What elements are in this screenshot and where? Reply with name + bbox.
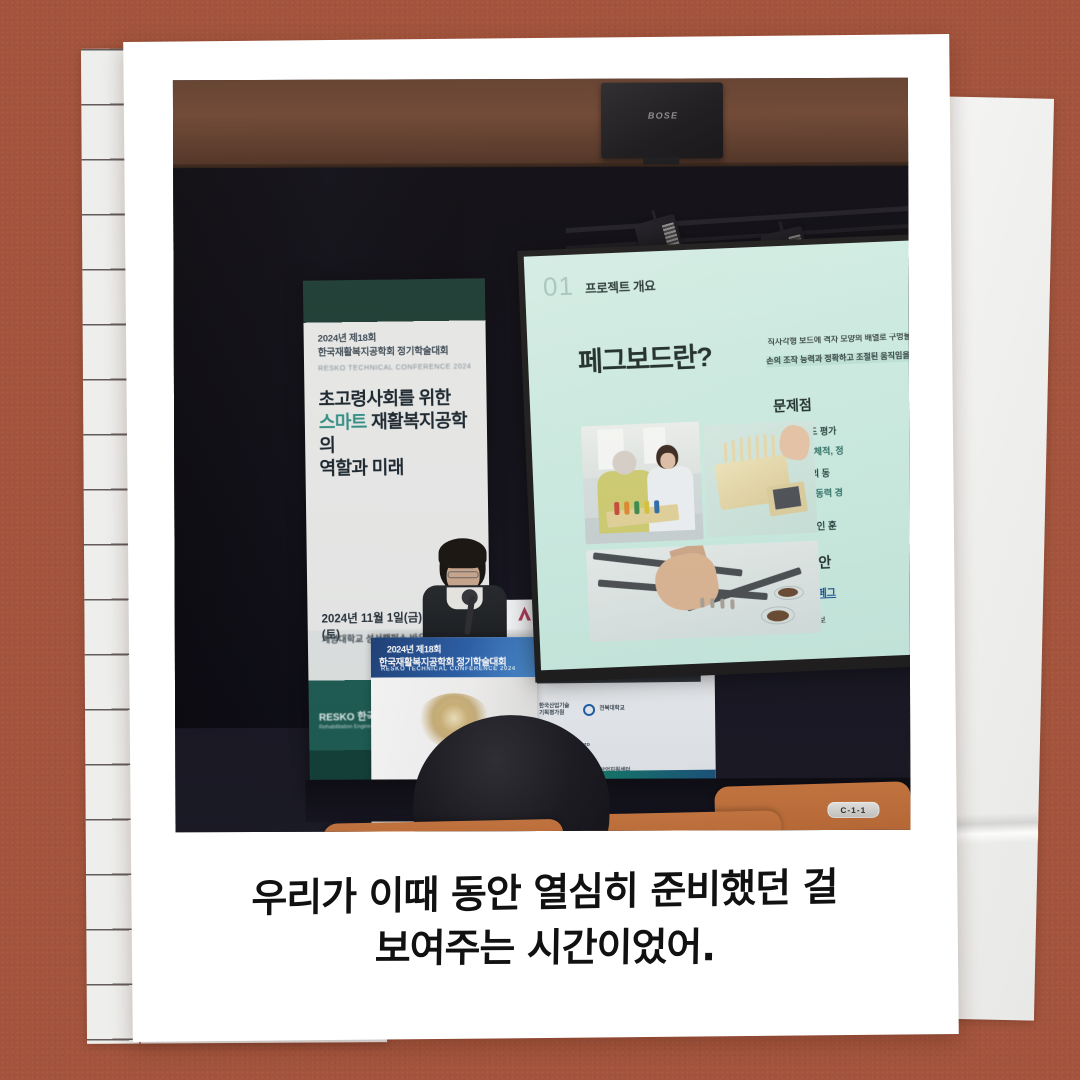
presenter-glasses: [448, 571, 479, 578]
slide-number: 01: [542, 271, 574, 303]
ceiling-panel: [173, 78, 911, 167]
caption-line-1: 우리가 이때 동안 열심히 준비했던 걸: [157, 858, 931, 929]
photograph: BOSE 2024년 제18회 한국재활복지공학회 정기학술대회 RESKO T…: [173, 78, 911, 833]
banner-title-highlight: 스마트: [319, 411, 367, 432]
sponsor-logo: 전북대학교: [583, 703, 624, 715]
slide-heading: 페그보드란?: [577, 335, 712, 380]
slide-section-title: 프로젝트 개요: [585, 275, 656, 297]
banner-title-line2: 스마트 재활복지공학의: [319, 409, 474, 457]
chair: [581, 810, 782, 832]
chair-plate: C-2-1: [662, 830, 714, 832]
slide-image-therapy-session: [581, 422, 704, 545]
chair-plate: C-1-1: [827, 802, 879, 818]
canvas: BOSE 2024년 제18회 한국재활복지공학회 정기학술대회 RESKO T…: [0, 0, 1080, 1080]
speaker-bracket: [643, 157, 679, 165]
banner-title-line3: 역할과 미래: [319, 455, 473, 480]
polaroid-card: BOSE 2024년 제18회 한국재활복지공학회 정기학술대회 RESKO T…: [123, 34, 959, 1042]
slide-lead-line2: 손의 조작 능력과 정확하고 조절된 움직임을: [766, 349, 910, 367]
sponsor-logo-row-1: 한국산업기술기획평가원 전북대학교: [523, 703, 625, 717]
slide-lead-line1: 직사각형 보드에 격자 모양의 배열로 구멍들: [767, 331, 910, 347]
banner-title-line1: 초고령사회를 위한: [318, 386, 472, 411]
banner-english-title: RESKO TECHNICAL CONFERENCE 2024: [318, 361, 472, 372]
podium-banner: 2024년 제18회 한국재활복지공학회 정기학술대회 RESKO TECHNI…: [371, 637, 537, 678]
resko-logo-icon: [518, 607, 531, 621]
caption-line-2: 보여주는 시간이었어.: [157, 920, 932, 979]
circle-logo-icon: [583, 703, 595, 715]
slide-problems-heading: 문제점: [773, 395, 812, 417]
banner-kicker-line2: 한국재활복지공학회 정기학술대회: [318, 344, 472, 360]
presenter-hair: [438, 538, 486, 568]
slide-image-smart-pegboard: [586, 541, 822, 643]
projector-screen: 01 프로젝트 개요 페그보드란? 직사각형 보드에 격자 모양의 배열로 구멍…: [524, 240, 911, 670]
handwritten-caption: 우리가 이때 동안 열심히 준비했던 걸 보여주는 시간이었어.: [131, 862, 958, 981]
podium-banner-line3: RESKO TECHNICAL CONFERENCE 2024: [381, 666, 516, 672]
slide-image-pegboard-device: [703, 421, 818, 538]
speaker-brand-label: BOSE: [641, 110, 685, 119]
